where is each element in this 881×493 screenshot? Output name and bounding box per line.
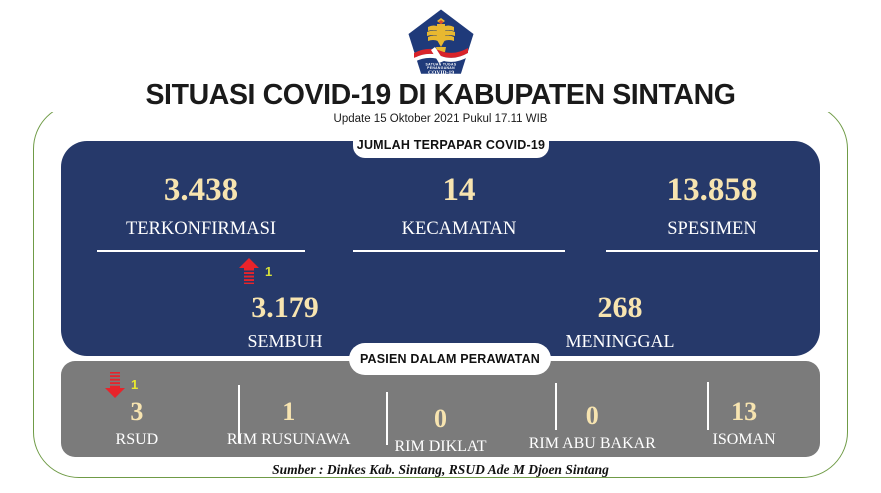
divider-spesimen [606, 250, 818, 252]
care-isoman-label: ISOMAN [668, 432, 820, 448]
stat-terkonfirmasi-value: 3.438 [71, 174, 331, 207]
stat-spesimen-value: 13.858 [582, 174, 842, 207]
stat-terkonfirmasi-label: TERKONFIRMASI [71, 220, 331, 239]
stat-meninggal-value: 268 [490, 293, 750, 323]
care-rim-rusunawa-value: 1 [213, 399, 365, 425]
care-stats-row: 3 RSUD 1 RIM RUSUNAWA 0 RIM DIKLAT 0 RIM… [61, 361, 820, 457]
source-attribution: Sumber : Dinkes Kab. Sintang, RSUD Ade M… [0, 462, 881, 478]
arrow-up-icon [238, 258, 260, 284]
care-rsud-label: RSUD [61, 432, 213, 448]
care-rim-diklat-value: 0 [365, 406, 517, 432]
care-panel-badge: PASIEN DALAM PERAWATAN [349, 343, 551, 375]
stat-terkonfirmasi: 3.438 TERKONFIRMASI [71, 174, 331, 239]
stat-sembuh-value: 3.179 [155, 293, 415, 323]
stat-kecamatan: 14 KECAMATAN [329, 174, 589, 239]
delta-sembuh: 1 [238, 258, 272, 284]
delta-sembuh-value: 1 [265, 264, 272, 279]
update-timestamp: Update 15 Oktober 2021 Pukul 17.11 WIB [0, 113, 881, 125]
care-cell-rim-diklat: 0 RIM DIKLAT [365, 406, 517, 457]
divider-terkonfirmasi [97, 250, 305, 252]
stat-kecamatan-label: KECAMATAN [329, 220, 589, 239]
exposure-panel-badge: JUMLAH TERPAPAR COVID-19 [353, 132, 549, 158]
page-title: SITUASI COVID-19 DI KABUPATEN SINTANG [0, 79, 881, 112]
stat-sembuh: 3.179 SEMBUH [155, 293, 415, 350]
care-rsud-value: 3 [61, 399, 213, 425]
stat-kecamatan-value: 14 [329, 174, 589, 207]
care-rim-rusunawa-label: RIM RUSUNAWA [213, 432, 365, 448]
care-cell-rim-rusunawa: 1 RIM RUSUNAWA [213, 399, 365, 457]
stat-spesimen: 13.858 SPESIMEN [582, 174, 842, 239]
satgas-covid19-logo: SATUAN TUGAS PENANGANAN COVID-19 [0, 6, 881, 78]
care-cell-isoman: 13 ISOMAN [668, 399, 820, 457]
stat-spesimen-label: SPESIMEN [582, 220, 842, 239]
care-cell-rim-abu-bakar: 0 RIM ABU BAKAR [516, 403, 668, 457]
care-rim-abu-bakar-value: 0 [516, 403, 668, 429]
logo-text-line3: COVID-19 [427, 70, 453, 76]
divider-kecamatan [353, 250, 565, 252]
care-rim-diklat-label: RIM DIKLAT [365, 439, 517, 455]
care-isoman-value: 13 [668, 399, 820, 425]
care-cell-rsud: 3 RSUD [61, 399, 213, 457]
care-rim-abu-bakar-label: RIM ABU BAKAR [516, 436, 668, 452]
stat-meninggal: 268 MENINGGAL [490, 293, 750, 350]
